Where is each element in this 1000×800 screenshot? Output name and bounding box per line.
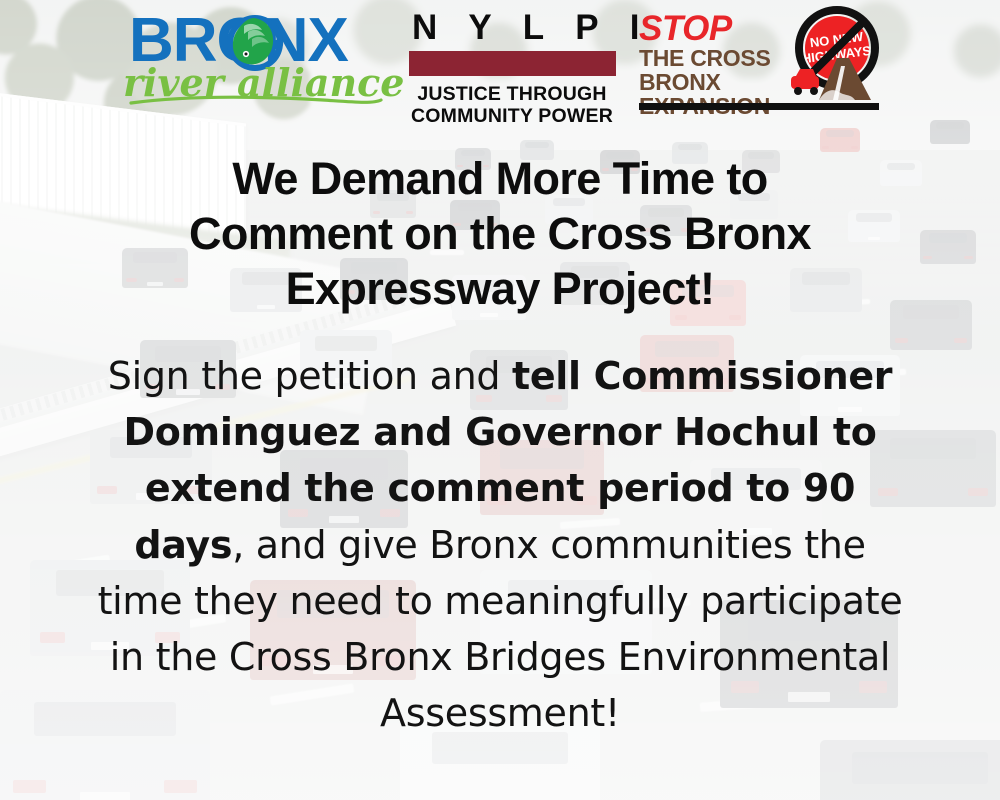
stop-word: STOP <box>639 12 799 46</box>
nylpi-logo: N Y L P I JUSTICE THROUGH COMMUNITY POWE… <box>401 4 623 122</box>
headline-line-1: We Demand More Time to <box>120 152 880 207</box>
stop-line2: BRONX <box>639 71 799 94</box>
campaign-poster: BRONX river alliance <box>0 0 1000 800</box>
river-alliance-script: river alliance <box>123 64 387 116</box>
poster-content: BRONX river alliance <box>0 0 1000 800</box>
nylpi-tagline-line2: COMMUNITY POWER <box>401 106 623 128</box>
stop-cbe-logo: STOP THE CROSS BRONX EXPANSION NO NEW HI… <box>637 4 885 116</box>
no-new-highways-badge-icon: NO NEW HIGHWAYS <box>785 4 885 104</box>
nylpi-tagline: JUSTICE THROUGH COMMUNITY POWER <box>401 84 623 128</box>
stop-cbe-text: STOP THE CROSS BRONX EXPANSION <box>639 12 799 118</box>
bronx-river-alliance-logo: BRONX river alliance <box>115 4 387 120</box>
nylpi-tagline-line1: JUSTICE THROUGH <box>401 84 623 106</box>
body-segment-1: Sign the petition and <box>108 354 512 398</box>
nylpi-maroon-bar <box>409 51 616 76</box>
body-copy: Sign the petition and tell Commissioner … <box>95 348 905 742</box>
headline-line-3: Expressway Project! <box>120 262 880 317</box>
stop-black-rule <box>639 103 879 110</box>
logo-row: BRONX river alliance <box>0 0 1000 122</box>
headline-line-2: Comment on the Cross Bronx <box>120 207 880 262</box>
headline: We Demand More Time to Comment on the Cr… <box>120 152 880 317</box>
stop-line1: THE CROSS <box>639 47 799 70</box>
nylpi-letters: N Y L P I <box>401 10 623 45</box>
